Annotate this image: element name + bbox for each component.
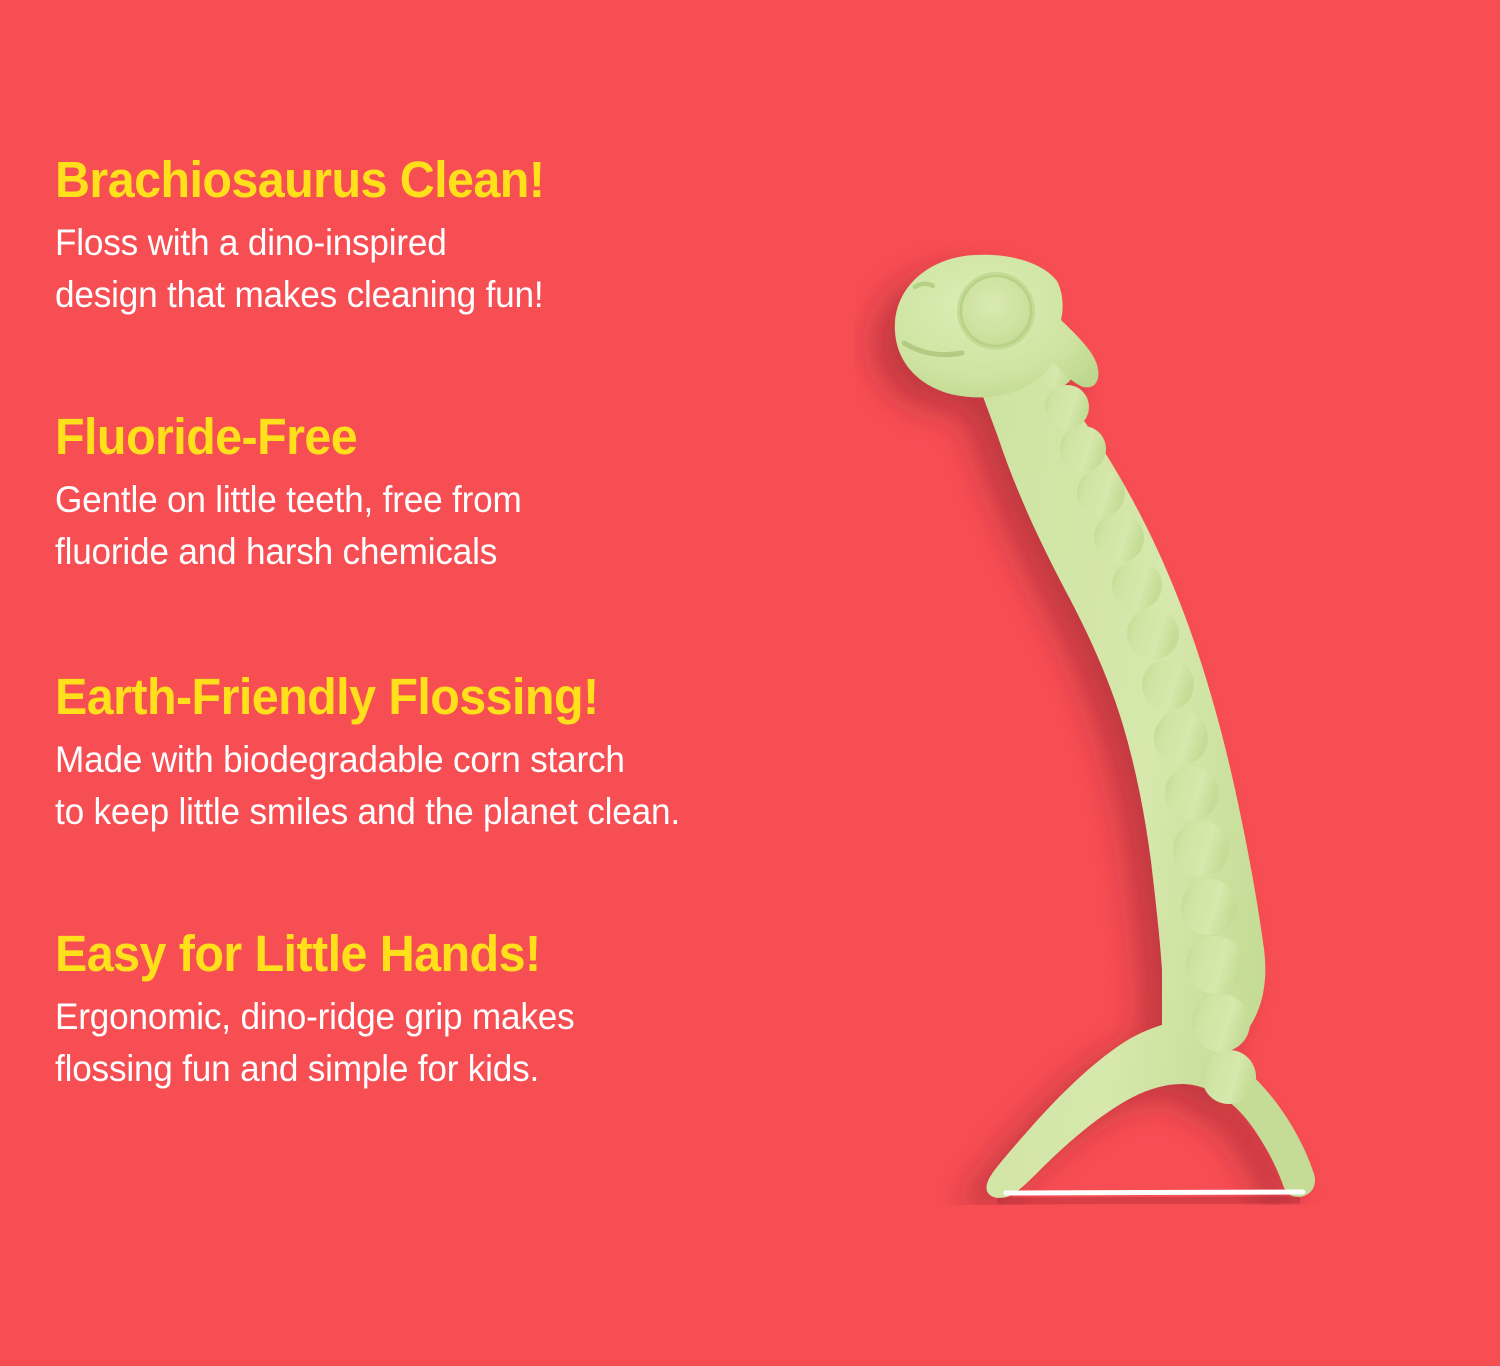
feature-description-line: design that makes cleaning fun! <box>55 269 891 321</box>
dino-eye <box>957 272 1035 350</box>
flosser-body-group <box>895 255 1315 1198</box>
feature-description-line: flossing fun and simple for kids. <box>55 1043 891 1095</box>
feature-description-line: Made with biodegradable corn starch <box>55 734 891 786</box>
feature-description: Gentle on little teeth, free from fluori… <box>55 474 891 578</box>
dino-head-and-neck <box>899 260 1315 1198</box>
feature-title: Fluoride-Free <box>55 409 891 465</box>
product-feature-infographic: Brachiosaurus Clean! Floss with a dino-i… <box>0 0 1500 1366</box>
feature-description-line: Floss with a dino-inspired <box>55 217 891 269</box>
feature-title: Easy for Little Hands! <box>55 926 891 982</box>
feature-description: Floss with a dino-inspired design that m… <box>55 217 891 321</box>
product-image <box>855 225 1455 1205</box>
feature-description-line: Gentle on little teeth, free from <box>55 474 891 526</box>
feature-description: Made with biodegradable corn starch to k… <box>55 734 891 838</box>
feature-description-line: Ergonomic, dino-ridge grip makes <box>55 991 891 1043</box>
brachiosaurus-flosser-illustration <box>855 225 1455 1205</box>
feature-title: Brachiosaurus Clean! <box>55 152 891 208</box>
feature-list: Brachiosaurus Clean! Floss with a dino-i… <box>55 152 935 1095</box>
feature-item-brachiosaurus-clean: Brachiosaurus Clean! Floss with a dino-i… <box>55 152 935 321</box>
floss-string <box>1000 1192 1303 1201</box>
feature-description-line: fluoride and harsh chemicals <box>55 526 891 578</box>
feature-item-fluoride-free: Fluoride-Free Gentle on little teeth, fr… <box>55 409 935 578</box>
feature-description-line: to keep little smiles and the planet cle… <box>55 786 891 838</box>
feature-item-easy-for-little-hands: Easy for Little Hands! Ergonomic, dino-r… <box>55 926 935 1095</box>
feature-description: Ergonomic, dino-ridge grip makes flossin… <box>55 991 891 1095</box>
feature-item-earth-friendly-flossing: Earth-Friendly Flossing! Made with biode… <box>55 669 935 838</box>
feature-title: Earth-Friendly Flossing! <box>55 669 891 725</box>
